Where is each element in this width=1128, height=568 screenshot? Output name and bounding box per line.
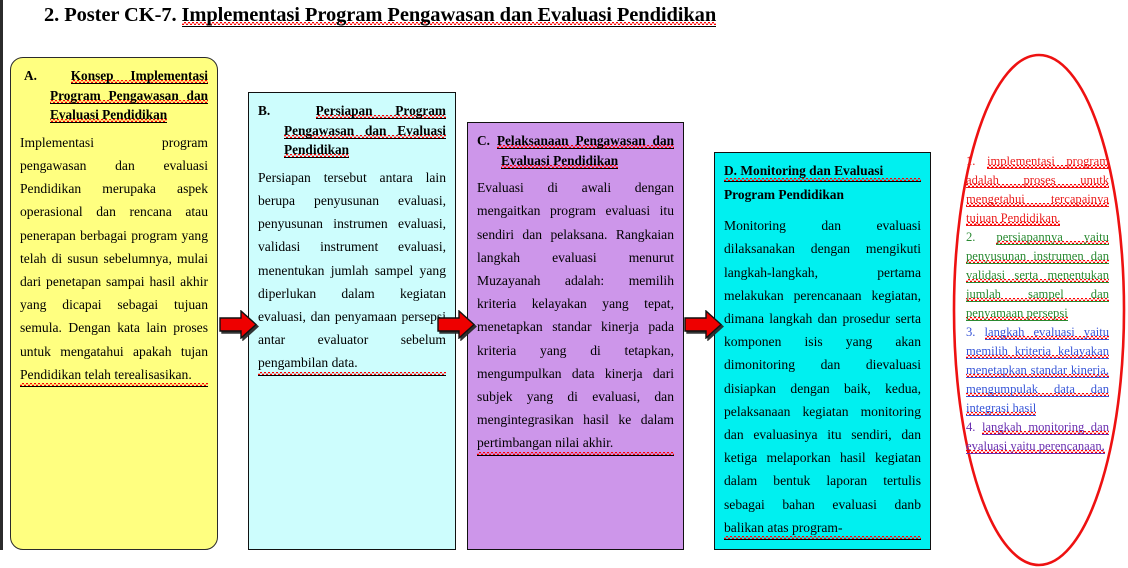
box-c-body: Evaluasi di awali dengan mengaitkan prog…	[477, 176, 674, 455]
box-b-body: Persiapan tersebut antara lain berupa pe…	[258, 166, 446, 376]
box-b-label: B.	[258, 103, 270, 118]
box-c-label: C.	[477, 133, 490, 148]
box-b-heading-text: Persiapan Program Pengawasan dan Evaluas…	[284, 103, 446, 158]
summary-annotation-list: 1. implementasi program adalah proses un…	[966, 152, 1109, 550]
summary-item-4-number: 4.	[966, 420, 975, 434]
summary-item-1-text: implementasi program adalah proses unutk…	[966, 154, 1109, 226]
summary-item-4-text: langkah monitoring dan evaluasi yaitu pe…	[966, 420, 1109, 454]
page-title-main: Implementasi Program Pengawasan dan Eval…	[182, 4, 717, 27]
summary-item-2-number: 2.	[966, 230, 975, 244]
box-a-label: A.	[24, 68, 37, 83]
summary-item-3-text: langkah evaluasi yaitu memilih kriteria …	[966, 325, 1109, 416]
box-c-heading-text: Pelaksanaan Pengawasan dan Evaluasi Pend…	[497, 133, 674, 169]
box-c-heading: C. Pelaksanaan Pengawasan dan Evaluasi P…	[477, 131, 674, 170]
page-title-number: 2.	[44, 4, 59, 26]
page-left-edge-rule	[0, 0, 3, 550]
summary-item-1-number: 1.	[966, 154, 975, 168]
box-d-heading: D. Monitoring dan Evaluasi Program Pendi…	[724, 161, 921, 204]
box-d-body: Monitoring dan evaluasi dilaksanakan den…	[724, 214, 921, 540]
arrow-b-to-c-icon	[437, 310, 475, 339]
concept-box-a: A. Konsep Implementasi Program Pengawasa…	[10, 57, 218, 550]
implementation-box-c: C. Pelaksanaan Pengawasan dan Evaluasi P…	[467, 122, 684, 550]
summary-item-2: 2. persiapannya yaitu penyusunan instrum…	[966, 228, 1109, 323]
arrow-a-to-b-icon	[219, 310, 257, 339]
box-d-heading-line2: Program Pendidikan	[724, 185, 921, 205]
monitoring-box-d: D. Monitoring dan Evaluasi Program Pendi…	[714, 152, 931, 550]
summary-item-2-text: persiapannya yaitu penyusunan instrumen …	[966, 230, 1109, 321]
box-a-heading: A. Konsep Implementasi Program Pengawasa…	[20, 66, 208, 125]
arrow-c-to-d-icon	[684, 310, 722, 339]
box-d-heading-line1: D. Monitoring dan Evaluasi	[724, 161, 921, 182]
summary-item-3-number: 3.	[966, 325, 975, 339]
box-a-body: Implementasi program pengawasan dan eval…	[20, 131, 208, 387]
summary-item-3: 3. langkah evaluasi yaitu memilih kriter…	[966, 323, 1109, 418]
page-title-prefix: Poster CK-7.	[64, 4, 176, 26]
summary-item-4: 4. langkah monitoring dan evaluasi yaitu…	[966, 418, 1109, 456]
box-a-heading-text: Konsep Implementasi Program Pengawasan d…	[50, 68, 208, 123]
summary-item-1: 1. implementasi program adalah proses un…	[966, 152, 1109, 228]
box-b-heading: B. Persiapan Program Pengawasan dan Eval…	[258, 101, 446, 160]
page-title: 2. Poster CK-7. Implementasi Program Pen…	[44, 4, 1044, 27]
preparation-box-b: B. Persiapan Program Pengawasan dan Eval…	[248, 92, 456, 550]
